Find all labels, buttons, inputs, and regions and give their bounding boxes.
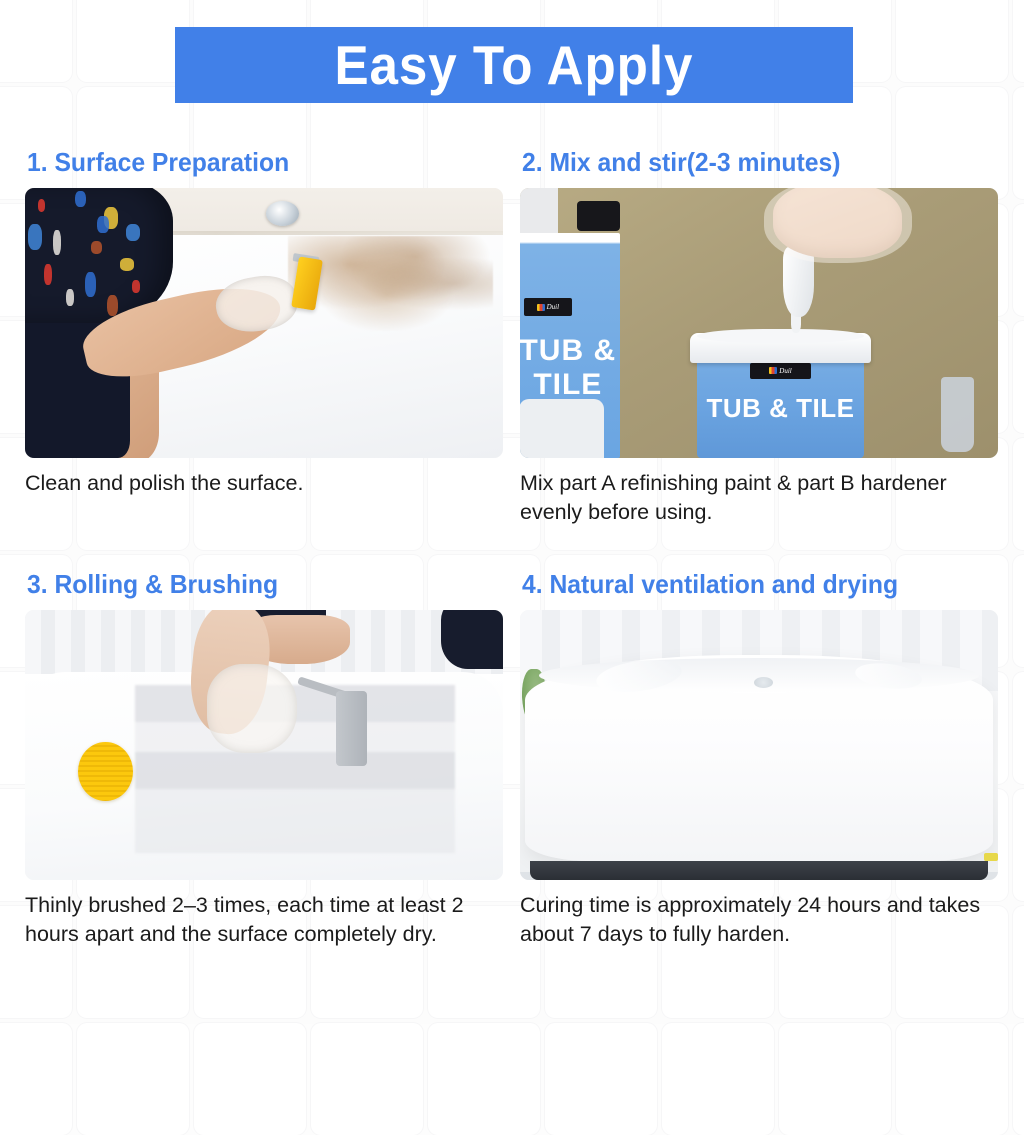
step-2-heading: 2. Mix and stir(2-3 minutes) <box>522 148 974 177</box>
tub-dark-base <box>530 861 989 880</box>
header-banner: Easy To Apply <box>175 27 853 103</box>
step-4-photo <box>520 610 998 880</box>
brand-swatch-icon <box>537 304 545 311</box>
step-2-caption: Mix part A refinishing paint & part B ha… <box>520 469 990 527</box>
brand-name-box: Duil <box>547 303 559 311</box>
tub-drain-icon-4 <box>754 677 773 688</box>
step-3-caption: Thinly brushed 2–3 times, each time at l… <box>25 891 495 949</box>
yellow-tape <box>984 853 998 861</box>
box-artwork <box>520 399 604 457</box>
brand-swatch-icon-bucket <box>769 367 777 374</box>
bucket-label: TUB & TILE <box>697 393 864 424</box>
product-box: Duil TUB & TILE <box>520 233 620 457</box>
brand-logo-bucket: Duil <box>750 363 810 379</box>
page-title: Easy To Apply <box>335 38 694 93</box>
yellow-stain-spot <box>78 742 133 801</box>
brand-name-bucket: Duil <box>779 367 791 375</box>
grey-cloth <box>941 377 974 453</box>
step-3-photo <box>25 610 503 880</box>
step-3-heading: 3. Rolling & Brushing <box>27 570 479 599</box>
person-torso-right <box>441 610 503 669</box>
step-card-1: 1. Surface Preparation Clean and polish … <box>25 148 503 498</box>
paint-roller <box>336 691 367 767</box>
black-clip <box>577 201 620 231</box>
plastic-glove-3 <box>207 664 298 753</box>
product-box-label: TUB & TILE <box>520 334 623 402</box>
infographic-page: Easy To Apply 1. Surface Preparation Cle… <box>0 0 1024 1024</box>
step-2-photo: Duil TUB & TILE Duil TUB & TILE <box>520 188 998 458</box>
step-1-caption: Clean and polish the surface. <box>25 469 495 498</box>
step-1-heading: 1. Surface Preparation <box>27 148 479 177</box>
step-card-4: 4. Natural ventilation and drying Curing… <box>520 570 998 949</box>
step-card-2: 2. Mix and stir(2-3 minutes) Duil TUB & … <box>520 148 998 527</box>
step-1-photo <box>25 188 503 458</box>
step-4-caption: Curing time is approximately 24 hours an… <box>520 891 990 949</box>
plastic-glove-2 <box>764 188 912 264</box>
bucket-lid-top <box>697 329 864 343</box>
step-4-heading: 4. Natural ventilation and drying <box>522 570 974 599</box>
brand-logo-box: Duil <box>524 298 572 316</box>
step-card-3: 3. Rolling & Brushing Thinly brushed 2–3… <box>25 570 503 949</box>
